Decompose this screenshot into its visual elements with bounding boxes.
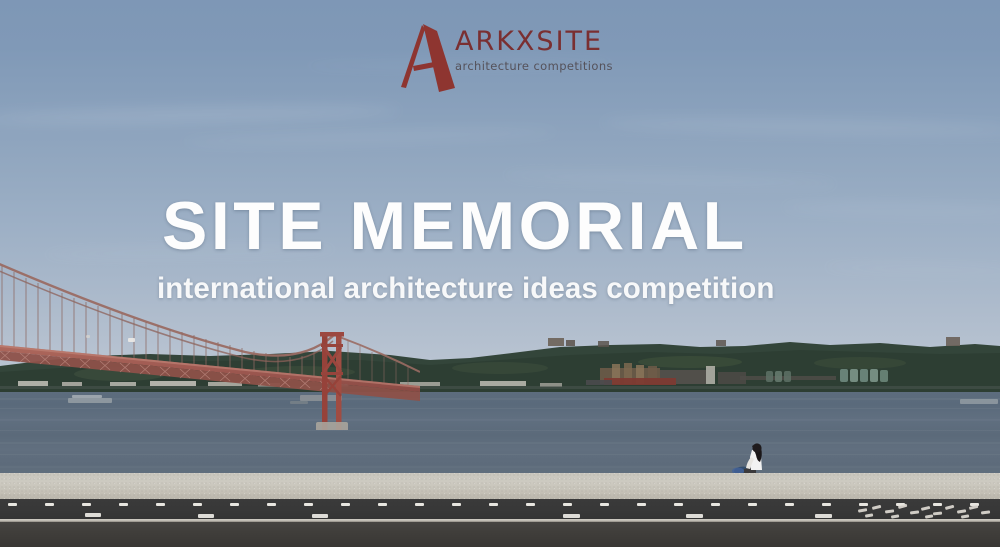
arkxsite-logo[interactable]: ARKXSITE architecture competitions: [393, 22, 623, 94]
page-subtitle: international architecture ideas competi…: [157, 274, 774, 304]
asphalt-road: [0, 499, 1000, 520]
seated-person: [730, 437, 778, 477]
arkxsite-logo-text: ARKXSITE architecture competitions: [455, 28, 613, 73]
arkxsite-wordmark: ARKXSITE: [455, 28, 613, 55]
suspension-bridge: [0, 240, 420, 430]
page-title: SITE MEMORIAL: [162, 192, 748, 260]
arkxsite-a-mark-icon: [393, 22, 463, 94]
road-reflector-cluster: [855, 500, 1000, 520]
stone-promenade: [0, 473, 1000, 499]
near-pavement: [0, 522, 1000, 547]
arkxsite-tagline: architecture competitions: [455, 61, 613, 73]
poster-image: ARKXSITE architecture competitions SITE …: [0, 0, 1000, 547]
